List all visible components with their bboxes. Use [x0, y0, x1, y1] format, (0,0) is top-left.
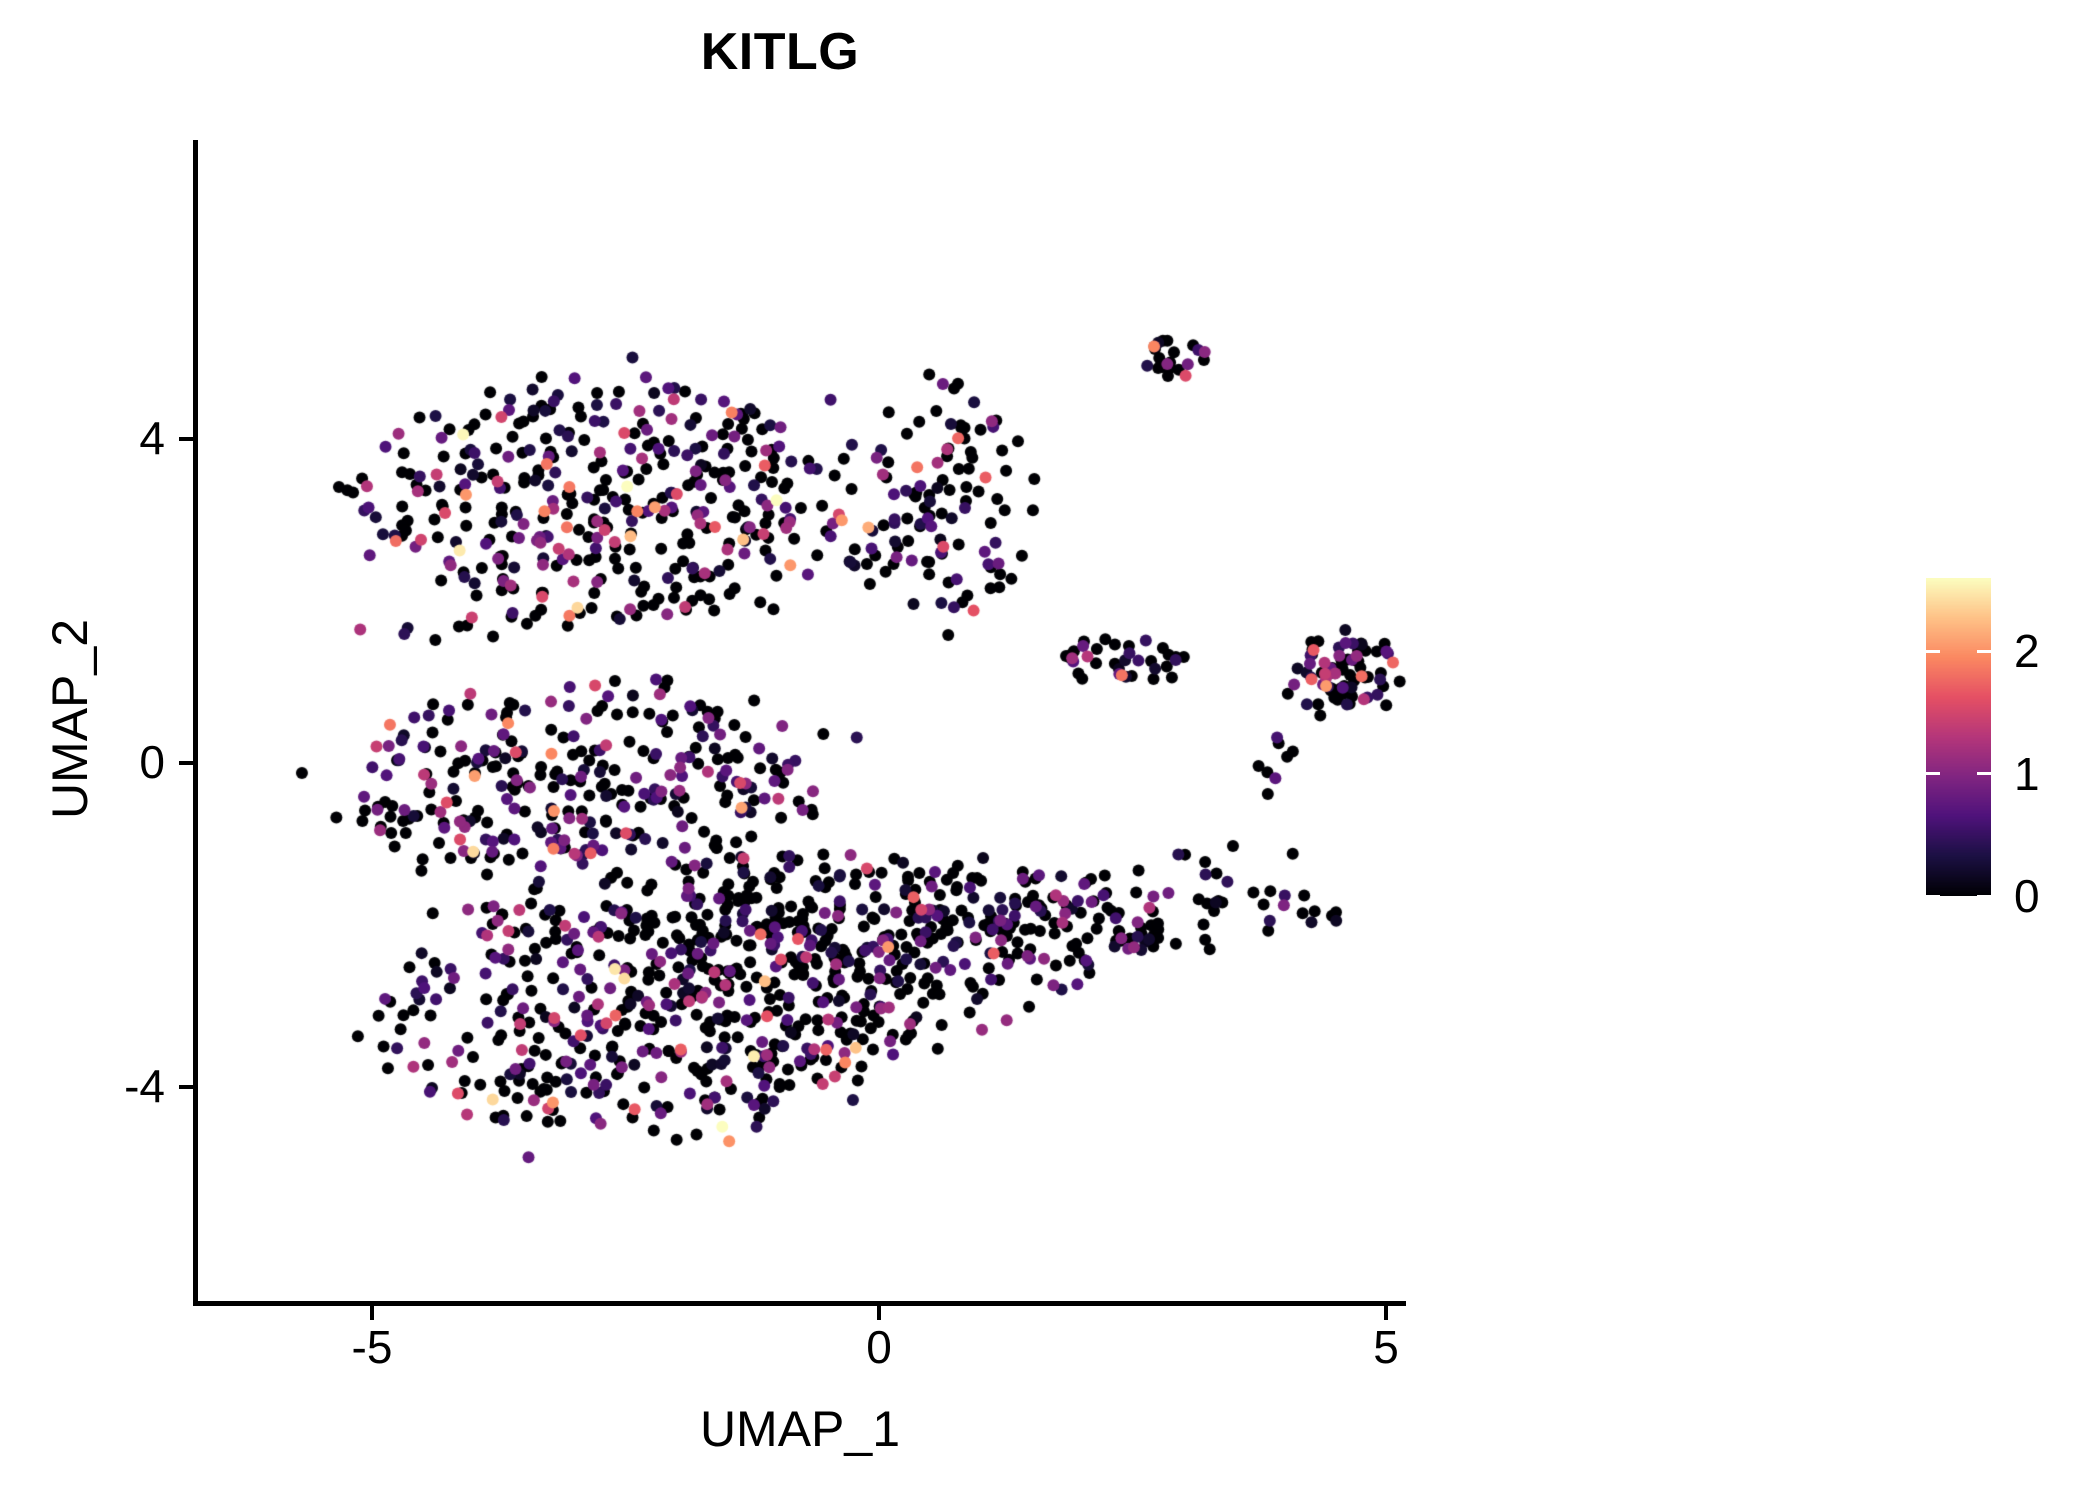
- colorbar-tick-2-right: [1977, 650, 1991, 653]
- x-tick-mark-neg5: [370, 1306, 374, 1320]
- umap-feature-plot: KITLG UMAP_2 UMAP_1 4 0 -4 -5 0 5 2 1 0: [0, 0, 2100, 1500]
- x-tick-mark-5: [1384, 1306, 1388, 1320]
- y-axis-line: [193, 140, 198, 1306]
- scatter-plot-area: [0, 0, 2100, 1500]
- y-tick-mark-0: [179, 761, 193, 765]
- x-tick-label-neg5: -5: [302, 1320, 442, 1374]
- colorbar-label-1: 1: [2014, 747, 2040, 801]
- y-tick-mark-4: [179, 437, 193, 441]
- x-tick-label-5: 5: [1316, 1320, 1456, 1374]
- y-tick-label-0: 0: [25, 735, 165, 789]
- x-tick-mark-0: [877, 1306, 881, 1320]
- x-tick-label-0: 0: [809, 1320, 949, 1374]
- y-tick-label-neg4: -4: [25, 1059, 165, 1113]
- colorbar-label-2: 2: [2014, 624, 2040, 678]
- colorbar-label-0: 0: [2014, 869, 2040, 923]
- colorbar-gradient: [1926, 578, 1991, 896]
- colorbar-tick-1-left: [1926, 772, 1940, 775]
- x-axis-line: [193, 1301, 1406, 1306]
- colorbar-tick-0-right: [1977, 895, 1991, 898]
- y-tick-mark-neg4: [179, 1085, 193, 1089]
- colorbar-tick-0-left: [1926, 895, 1940, 898]
- colorbar-tick-2-left: [1926, 650, 1940, 653]
- colorbar-tick-1-right: [1977, 772, 1991, 775]
- y-tick-label-4: 4: [25, 411, 165, 465]
